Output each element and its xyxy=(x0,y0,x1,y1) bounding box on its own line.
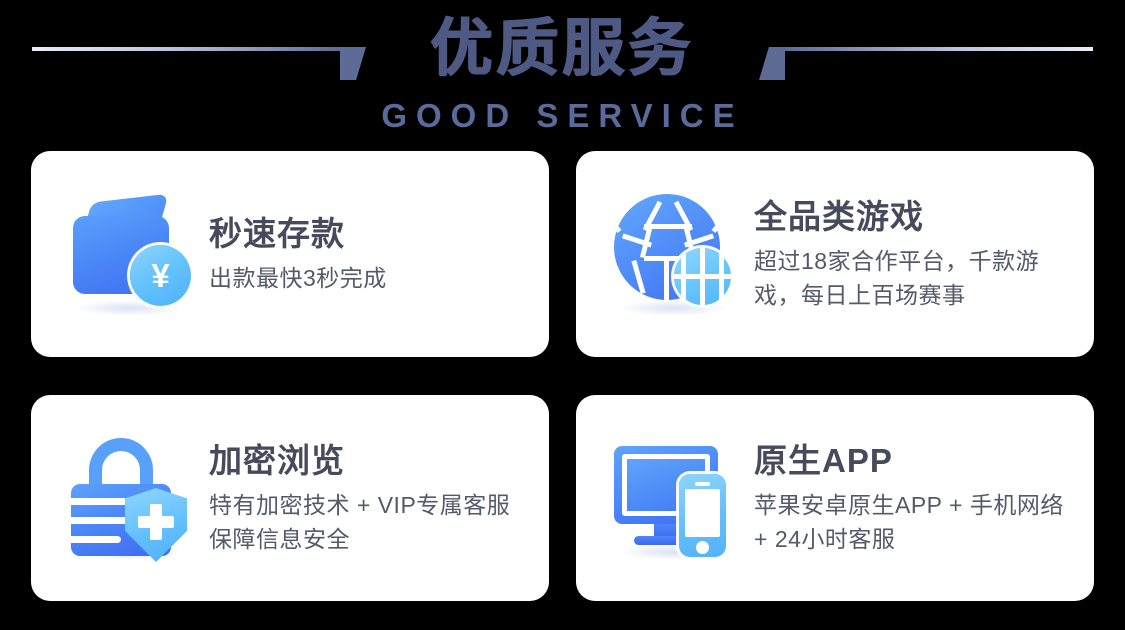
card-title: 加密浏览 xyxy=(209,440,529,482)
phone-screen xyxy=(685,489,720,537)
banner-subtitle: GOOD SERVICE xyxy=(0,96,1125,136)
card-title: 全品类游戏 xyxy=(754,196,1074,238)
card-description: 出款最快3秒完成 xyxy=(209,261,387,295)
banner-title: 优质服务 xyxy=(0,8,1125,90)
phone-icon xyxy=(679,474,726,557)
promo-banner: 优质服务 GOOD SERVICE ¥ 秒速存款 出款最快3秒完成 xyxy=(0,0,1125,630)
card-description: 苹果安卓原生APP + 手机网络 + 24小时客服 xyxy=(754,488,1074,556)
card-text: 秒速存款 出款最快3秒完成 xyxy=(209,213,401,295)
feature-card-grid: ¥ 秒速存款 出款最快3秒完成 xyxy=(31,151,1094,601)
banner-header: 优质服务 GOOD SERVICE xyxy=(0,0,1125,148)
phone-home-button xyxy=(696,541,709,554)
wallet-with-yuan-coin-icon: ¥ xyxy=(67,188,199,320)
card-text: 原生APP 苹果安卓原生APP + 手机网络 + 24小时客服 xyxy=(754,440,1088,556)
card-title: 秒速存款 xyxy=(209,213,387,255)
feature-card-deposit[interactable]: ¥ 秒速存款 出款最快3秒完成 xyxy=(31,151,549,357)
shield-cross-horizontal xyxy=(138,516,174,528)
yuan-symbol: ¥ xyxy=(151,259,169,292)
phone-speaker xyxy=(695,482,710,486)
feature-card-games[interactable]: 全品类游戏 超过18家合作平台，千款游戏，每日上百场赛事 xyxy=(576,151,1094,357)
feature-card-encryption[interactable]: 加密浏览 特有加密技术 + VIP专属客服保障信息安全 xyxy=(31,395,549,601)
padlock-with-shield-icon xyxy=(67,432,199,564)
yuan-coin-icon: ¥ xyxy=(130,245,191,306)
basketball-icon xyxy=(674,248,731,305)
card-title: 原生APP xyxy=(754,440,1074,482)
card-description: 超过18家合作平台，千款游戏，每日上百场赛事 xyxy=(754,244,1074,312)
monitor-and-phone-icon xyxy=(612,432,744,564)
soccer-ball-and-basketball-icon xyxy=(612,188,744,320)
card-description: 特有加密技术 + VIP专属客服保障信息安全 xyxy=(209,488,529,556)
card-text: 加密浏览 特有加密技术 + VIP专属客服保障信息安全 xyxy=(209,440,543,556)
feature-card-native-app[interactable]: 原生APP 苹果安卓原生APP + 手机网络 + 24小时客服 xyxy=(576,395,1094,601)
card-text: 全品类游戏 超过18家合作平台，千款游戏，每日上百场赛事 xyxy=(754,196,1088,312)
